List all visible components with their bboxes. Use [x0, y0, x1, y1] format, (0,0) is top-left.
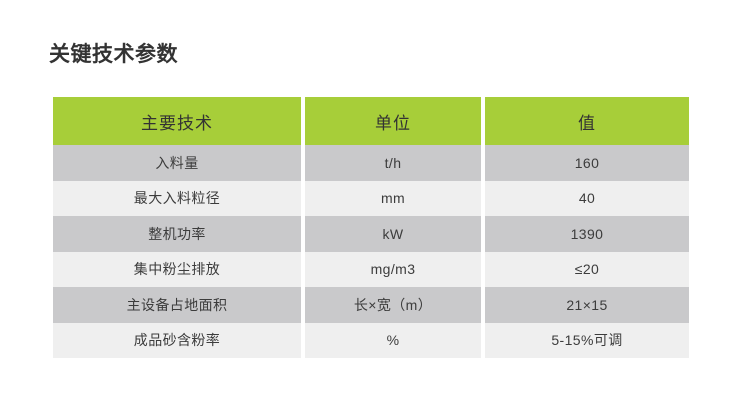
table-row: 整机功率 kW 1390 [53, 216, 689, 252]
table-header: 主要技术 单位 值 [53, 97, 689, 145]
table-body: 入料量 t/h 160 最大入料粒径 mm 40 整机功率 kW 1390 集中… [53, 145, 689, 358]
cell-value: 1390 [485, 216, 689, 252]
cell-tech: 入料量 [53, 145, 301, 181]
table-row: 成品砂含粉率 % 5-15%可调 [53, 323, 689, 359]
cell-value: 160 [485, 145, 689, 181]
table-header-row: 主要技术 单位 值 [53, 97, 689, 145]
cell-value: ≤20 [485, 252, 689, 288]
column-header-value: 值 [485, 97, 689, 145]
column-header-unit: 单位 [305, 97, 481, 145]
table-row: 入料量 t/h 160 [53, 145, 689, 181]
cell-tech: 集中粉尘排放 [53, 252, 301, 288]
cell-unit: mm [305, 181, 481, 217]
cell-value: 21×15 [485, 287, 689, 323]
column-header-tech: 主要技术 [53, 97, 301, 145]
cell-unit: mg/m3 [305, 252, 481, 288]
cell-tech: 整机功率 [53, 216, 301, 252]
cell-tech: 主设备占地面积 [53, 287, 301, 323]
cell-value: 40 [485, 181, 689, 217]
cell-tech: 成品砂含粉率 [53, 323, 301, 359]
cell-tech: 最大入料粒径 [53, 181, 301, 217]
cell-unit: t/h [305, 145, 481, 181]
page-title: 关键技术参数 [49, 44, 178, 65]
document-page: 关键技术参数 主要技术 单位 值 入料量 t/h 160 最大入料粒径 mm 4… [0, 0, 734, 411]
table-row: 主设备占地面积 长×宽（m） 21×15 [53, 287, 689, 323]
table-row: 最大入料粒径 mm 40 [53, 181, 689, 217]
table-row: 集中粉尘排放 mg/m3 ≤20 [53, 252, 689, 288]
key-technical-parameters-table: 主要技术 单位 值 入料量 t/h 160 最大入料粒径 mm 40 整机功率 … [49, 97, 693, 358]
cell-unit: % [305, 323, 481, 359]
cell-unit: 长×宽（m） [305, 287, 481, 323]
cell-unit: kW [305, 216, 481, 252]
cell-value: 5-15%可调 [485, 323, 689, 359]
